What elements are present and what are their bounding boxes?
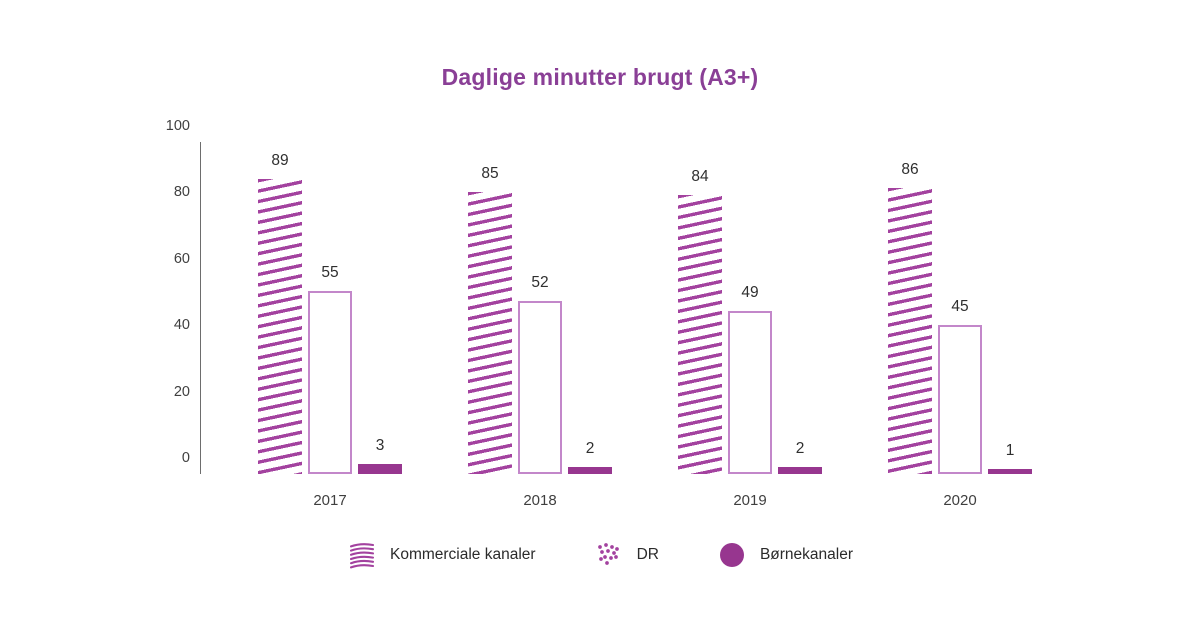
bar-value-label: 2 [796, 440, 805, 458]
bar-commercial[interactable]: 85 [468, 142, 512, 474]
y-axis-tick-label: 100 [148, 118, 190, 134]
bar-commercial[interactable]: 89 [258, 142, 302, 474]
chart-container: Daglige minutter brugt (A3+) 02040608010… [0, 0, 1200, 628]
plot-area: 020406080100 895532017855222018844922019… [200, 142, 1060, 474]
dotted-cluster-icon [594, 540, 624, 570]
bar-rect[interactable] [988, 469, 1032, 474]
y-axis-tick-label: 20 [148, 384, 190, 400]
y-axis-tick-label: 80 [148, 184, 190, 200]
legend-item[interactable]: Kommerciale kanaler [347, 540, 536, 570]
bar-value-label: 84 [691, 168, 708, 186]
bar-value-label: 85 [481, 165, 498, 183]
legend-item[interactable]: DR [594, 540, 659, 570]
bar-value-label: 89 [271, 152, 288, 170]
bar-kids[interactable]: 2 [568, 142, 612, 474]
x-axis-category-label: 2019 [678, 492, 822, 509]
filled-circle-icon [717, 540, 747, 570]
striped-circle-icon [347, 540, 377, 570]
bar-value-label: 86 [901, 161, 918, 179]
y-axis-tick-label: 40 [148, 317, 190, 333]
bar-rect[interactable] [568, 467, 612, 474]
bar-rect[interactable] [778, 467, 822, 474]
bar-rect[interactable] [728, 311, 772, 474]
bar-rect[interactable] [358, 464, 402, 474]
bar-group: 844922019 [678, 142, 822, 474]
chart-legend: Kommerciale kanalerDRBørnekanaler [0, 540, 1200, 570]
bar-rect[interactable] [258, 179, 302, 474]
bar-rect[interactable] [518, 301, 562, 474]
bar-kids[interactable]: 1 [988, 142, 1032, 474]
bar-value-label: 1 [1006, 442, 1015, 460]
bar-dr[interactable]: 49 [728, 142, 772, 474]
bar-dr[interactable]: 55 [308, 142, 352, 474]
bar-commercial[interactable]: 84 [678, 142, 722, 474]
bar-commercial[interactable]: 86 [888, 142, 932, 474]
bar-value-label: 52 [531, 274, 548, 292]
bar-group: 855222018 [468, 142, 612, 474]
y-axis-line [200, 142, 201, 474]
bar-value-label: 49 [741, 284, 758, 302]
bar-rect[interactable] [888, 188, 932, 474]
legend-item[interactable]: Børnekanaler [717, 540, 853, 570]
bar-dr[interactable]: 45 [938, 142, 982, 474]
bar-value-label: 45 [951, 298, 968, 316]
legend-item-label: Kommerciale kanaler [390, 546, 536, 564]
y-axis-tick-label: 60 [148, 251, 190, 267]
chart-title: Daglige minutter brugt (A3+) [0, 64, 1200, 91]
bar-dr[interactable]: 52 [518, 142, 562, 474]
x-axis-category-label: 2018 [468, 492, 612, 509]
x-axis-category-label: 2017 [258, 492, 402, 509]
bar-group: 895532017 [258, 142, 402, 474]
bar-rect[interactable] [938, 325, 982, 474]
bar-value-label: 3 [376, 437, 385, 455]
bar-value-label: 55 [321, 264, 338, 282]
legend-item-label: DR [637, 546, 659, 564]
bar-kids[interactable]: 2 [778, 142, 822, 474]
x-axis-category-label: 2020 [888, 492, 1032, 509]
y-axis-tick-label: 0 [148, 450, 190, 466]
bar-group: 864512020 [888, 142, 1032, 474]
bar-rect[interactable] [308, 291, 352, 474]
bar-kids[interactable]: 3 [358, 142, 402, 474]
bar-rect[interactable] [468, 192, 512, 474]
bar-rect[interactable] [678, 195, 722, 474]
bar-value-label: 2 [586, 440, 595, 458]
legend-item-label: Børnekanaler [760, 546, 853, 564]
